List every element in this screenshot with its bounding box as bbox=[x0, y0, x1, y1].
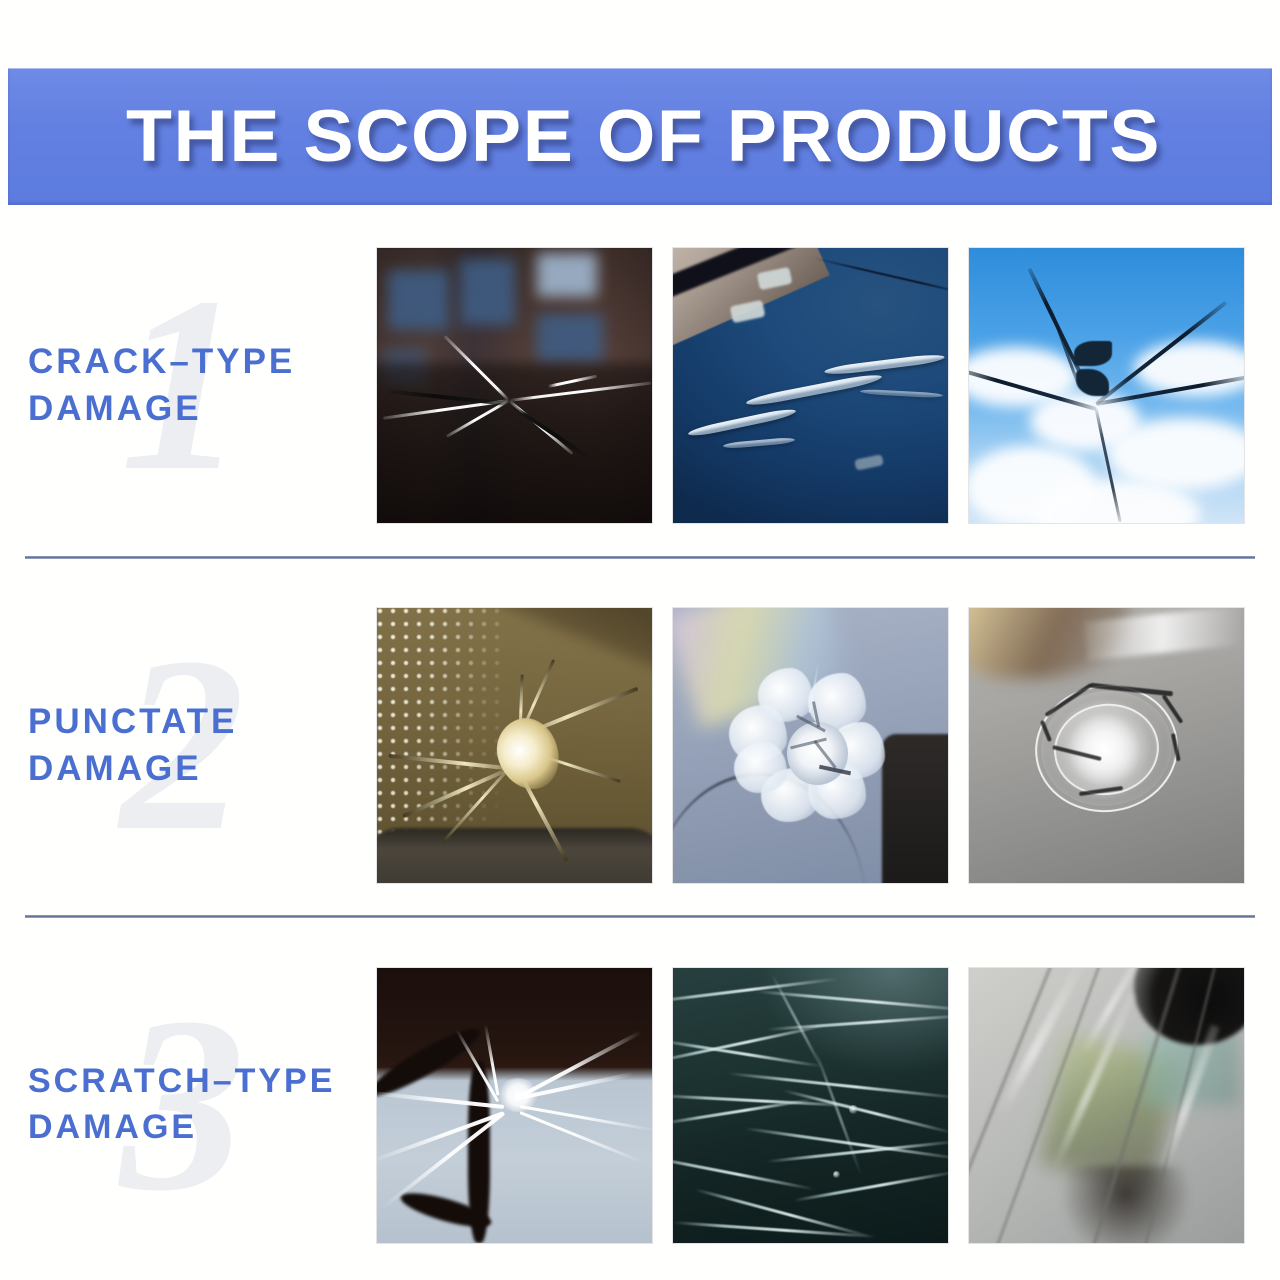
image-tile-chip-olive-windshield[interactable] bbox=[377, 608, 652, 883]
row-divider-1 bbox=[25, 556, 1255, 559]
row-3-label: SCRATCH–TYPE DAMAGE bbox=[0, 1059, 377, 1151]
image-tile-bullseye-chip-grey-glass[interactable] bbox=[969, 608, 1244, 883]
row-2-label-line-2: DAMAGE bbox=[28, 745, 377, 792]
row-scratch-type-damage: 3 SCRATCH–TYPE DAMAGE bbox=[0, 964, 1280, 1246]
header-banner: THE SCOPE OF PRODUCTS bbox=[8, 68, 1272, 205]
row-3-tiles bbox=[377, 968, 1244, 1243]
page-title: THE SCOPE OF PRODUCTS bbox=[119, 95, 1160, 178]
image-tile-scuffed-headlight-glass[interactable] bbox=[969, 968, 1244, 1243]
row-punctate-damage: 2 PUNCTATE DAMAGE bbox=[0, 604, 1280, 886]
row-2-label: PUNCTATE DAMAGE bbox=[0, 698, 377, 793]
row-1-label-cell: 1 CRACK–TYPE DAMAGE bbox=[0, 244, 377, 526]
image-tile-cracks-sky-clouds[interactable] bbox=[969, 248, 1244, 523]
row-divider-2 bbox=[25, 915, 1255, 918]
image-tile-fine-scratches-dark-glass[interactable] bbox=[673, 968, 948, 1243]
row-2-tiles bbox=[377, 608, 1244, 883]
image-tile-long-crack-blue-glass[interactable] bbox=[673, 248, 948, 523]
row-3-label-cell: 3 SCRATCH–TYPE DAMAGE bbox=[0, 964, 377, 1246]
row-2-label-line-1: PUNCTATE bbox=[28, 698, 377, 745]
chip-flower-shape bbox=[750, 679, 882, 822]
row-crack-type-damage: 1 CRACK–TYPE DAMAGE bbox=[0, 244, 1280, 526]
row-2-label-cell: 2 PUNCTATE DAMAGE bbox=[0, 604, 377, 886]
image-tile-radiating-scratches[interactable] bbox=[377, 968, 652, 1243]
image-tile-flower-chip-glass[interactable] bbox=[673, 608, 948, 883]
row-3-label-line-2: DAMAGE bbox=[28, 1105, 377, 1151]
infographic-page: THE SCOPE OF PRODUCTS 1 CRACK–TYPE DAMAG… bbox=[0, 0, 1280, 1280]
row-3-label-line-1: SCRATCH–TYPE bbox=[28, 1059, 377, 1105]
row-1-label-line-1: CRACK–TYPE bbox=[28, 338, 377, 385]
image-tile-crack-star-building[interactable] bbox=[377, 248, 652, 523]
row-1-label-line-2: DAMAGE bbox=[28, 385, 377, 432]
row-1-tiles bbox=[377, 248, 1244, 523]
row-1-label: CRACK–TYPE DAMAGE bbox=[0, 338, 377, 433]
